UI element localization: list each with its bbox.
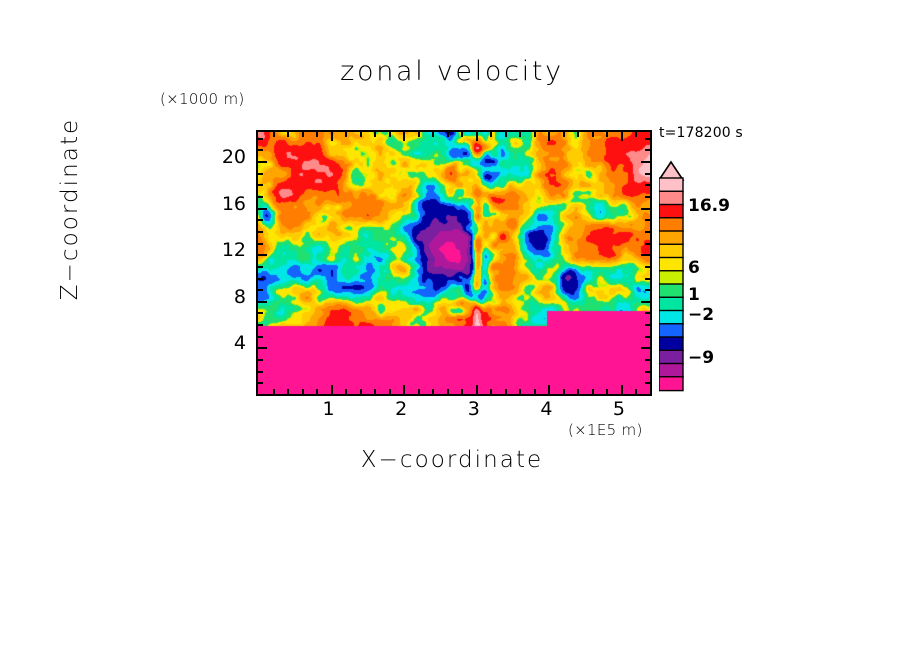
x-axis-tick [374,389,376,396]
y-axis-tick [256,266,263,268]
y-axis-tick [256,138,263,140]
x-axis-tick [577,389,579,396]
contour-plot-area[interactable] [256,130,652,396]
x-axis-tick [476,130,478,141]
y-axis-tick [256,184,263,186]
x-axis-tick [635,130,637,137]
y-axis-tick [256,254,267,256]
y-axis-tick-label: 4 [202,332,246,354]
x-axis-title: X−coordinate [0,447,904,473]
y-axis-title: Z−coordinate [57,79,83,339]
x-axis-tick [534,389,536,396]
x-axis-tick [389,130,391,137]
x-axis-tick [273,130,275,137]
x-axis-tick [461,130,463,137]
x-axis-tick [331,385,333,396]
colorbar-tick-label: 1 [688,285,700,305]
x-axis-tick [534,130,536,137]
x-axis-tick [592,389,594,396]
y-axis-tick [256,149,263,151]
y-axis-tick [645,231,652,233]
x-axis-tick [621,385,623,396]
colorbar-tick-label: −2 [688,305,714,325]
y-axis-tick [641,161,652,163]
x-axis-tick [287,389,289,396]
y-axis-tick [645,289,652,291]
x-axis-tick [447,389,449,396]
y-axis-tick [256,336,263,338]
x-axis-tick [389,389,391,396]
x-axis-tick [606,389,608,396]
x-axis-tick-label: 1 [309,398,349,420]
x-axis-tick [302,130,304,137]
y-axis-tick [645,324,652,326]
x-axis-tick [302,389,304,396]
x-axis-tick [360,389,362,396]
x-axis-tick [374,130,376,137]
y-axis-tick [645,312,652,314]
y-axis-tick-label: 16 [202,193,246,215]
x-axis-tick [548,385,550,396]
y-axis-tick [641,301,652,303]
x-axis-tick [563,389,565,396]
x-axis-tick [418,130,420,137]
x-axis-tick [360,130,362,137]
y-axis-tick [645,149,652,151]
x-axis-tick [461,389,463,396]
time-annotation: t=178200 s [659,125,743,141]
x-axis-tick [621,130,623,141]
colorbar-swatches [659,160,689,396]
y-axis-tick [641,347,652,349]
x-axis-tick [273,389,275,396]
y-axis-tick [645,382,652,384]
y-axis-tick [641,254,652,256]
y-axis-tick-label: 8 [202,286,246,308]
x-axis-tick [505,130,507,137]
y-axis-tick-label: 12 [202,239,246,261]
y-axis-tick [256,359,263,361]
y-axis-tick-label: 20 [202,146,246,168]
y-axis-tick [645,336,652,338]
y-axis-tick [256,173,263,175]
y-axis-tick [645,243,652,245]
y-axis-tick [256,324,263,326]
x-axis-tick [403,130,405,141]
y-axis-tick [256,219,263,221]
y-axis-tick [256,371,263,373]
x-axis-tick-label: 5 [599,398,639,420]
x-axis-tick [490,389,492,396]
y-axis-tick [256,196,263,198]
x-axis-tick [519,389,521,396]
y-axis-tick [645,219,652,221]
y-axis-tick [645,138,652,140]
page-title: zonal velocity [0,56,904,87]
x-axis-tick [316,130,318,137]
x-axis-tick [331,130,333,141]
colorbar-tick-label: 16.9 [688,196,730,216]
x-axis-tick [635,389,637,396]
x-axis-tick [345,389,347,396]
y-axis-tick [256,231,263,233]
x-axis-tick [592,130,594,137]
y-axis-tick [645,278,652,280]
x-axis-tick [476,385,478,396]
x-axis-tick [606,130,608,137]
colorbar-tick-label: 6 [688,258,700,278]
y-axis-tick [256,382,263,384]
y-axis-tick [645,371,652,373]
y-axis-tick [256,312,263,314]
y-axis-tick [256,301,267,303]
x-axis-tick [577,130,579,137]
x-axis-tick [432,130,434,137]
x-axis-tick [316,389,318,396]
x-axis-tick [432,389,434,396]
x-axis-tick [519,130,521,137]
x-axis-tick [345,130,347,137]
x-axis-tick [418,389,420,396]
y-axis-tick [256,278,263,280]
y-axis-tick [256,208,267,210]
y-axis-unit-label: (×1000 m) [160,90,245,108]
y-axis-tick [256,161,267,163]
y-axis-tick [256,289,263,291]
x-axis-tick-label: 2 [381,398,421,420]
x-axis-tick-label: 3 [454,398,494,420]
x-axis-tick [505,389,507,396]
x-axis-tick [490,130,492,137]
contour-field [258,132,650,394]
x-axis-unit-label: (×1E5 m) [568,421,643,439]
y-axis-tick [256,243,263,245]
colorbar-tick-label: −9 [688,348,714,368]
x-axis-tick-label: 4 [526,398,566,420]
x-axis-tick [548,130,550,141]
x-axis-tick [403,385,405,396]
y-axis-tick [645,184,652,186]
x-axis-tick [287,130,289,137]
x-axis-tick [563,130,565,137]
x-axis-tick [447,130,449,137]
y-axis-tick [256,347,267,349]
y-axis-tick [645,173,652,175]
y-axis-tick [645,196,652,198]
y-axis-tick [645,266,652,268]
y-axis-tick [645,359,652,361]
y-axis-tick [641,208,652,210]
